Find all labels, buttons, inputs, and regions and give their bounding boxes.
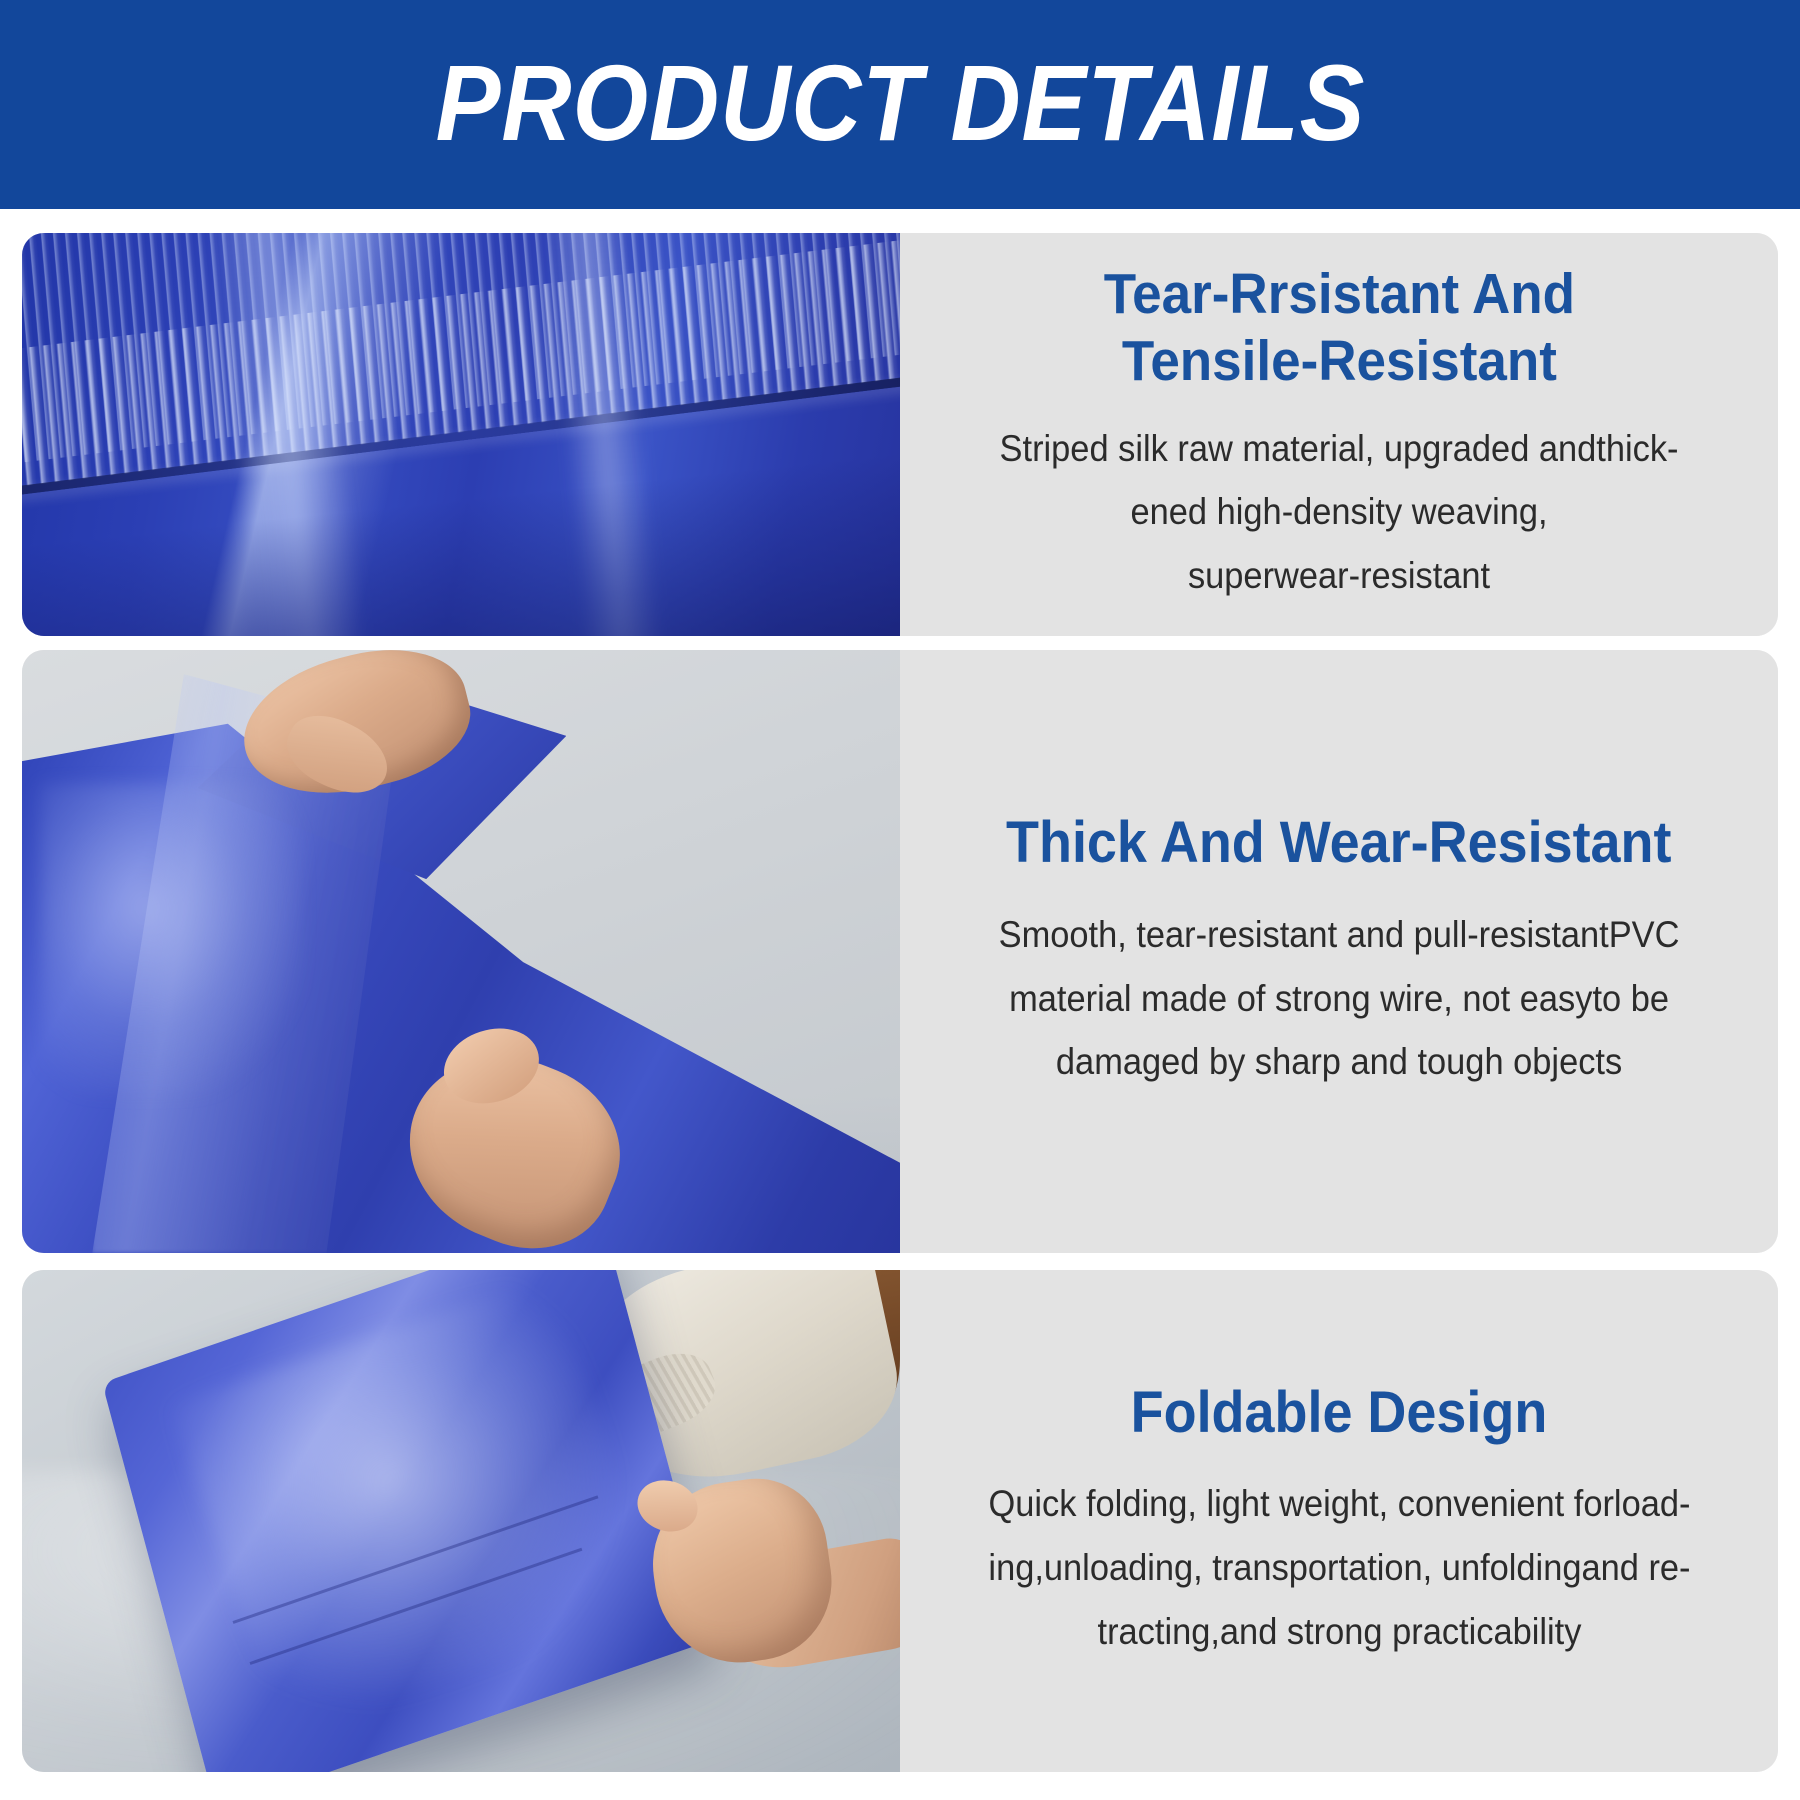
feature-body-text: Smooth, tear-resistant and pull-resistan… [999, 903, 1680, 1094]
feature-body-text: Quick folding, light weight, convenient … [988, 1472, 1690, 1663]
feature-row: Tear-Rrsistant And Tensile-Resistant Str… [22, 233, 1778, 636]
feature-body-text: Striped silk raw material, upgraded andt… [1000, 417, 1679, 608]
hands-pulling-tarp-photo [22, 650, 900, 1253]
folded-tarp-photo [22, 1270, 900, 1772]
page-title: PRODUCT DETAILS [435, 49, 1365, 161]
feature-row: Foldable Design Quick folding, light wei… [22, 1270, 1778, 1772]
feature-image-folded-tarp-held [22, 1270, 900, 1772]
tarp-weave-photo [22, 233, 900, 636]
feature-text-pane: Thick And Wear-Resistant Smooth, tear-re… [900, 650, 1778, 1253]
header-banner: PRODUCT DETAILS [0, 0, 1800, 209]
feature-row: Thick And Wear-Resistant Smooth, tear-re… [22, 650, 1778, 1253]
tarp-highlight [40, 783, 303, 1097]
feature-image-blue-tarp-weave-closeup [22, 233, 900, 636]
feature-text-pane: Tear-Rrsistant And Tensile-Resistant Str… [900, 233, 1778, 636]
feature-heading: Thick And Wear-Resistant [1006, 809, 1671, 877]
feature-heading: Foldable Design [1131, 1379, 1548, 1447]
feature-image-hands-pulling-tarp [22, 650, 900, 1253]
product-details-page: PRODUCT DETAILS Tear-Rrsistant And Tensi… [0, 0, 1800, 1800]
feature-text-pane: Foldable Design Quick folding, light wei… [900, 1270, 1778, 1772]
feature-heading: Tear-Rrsistant And Tensile-Resistant [1103, 261, 1574, 394]
